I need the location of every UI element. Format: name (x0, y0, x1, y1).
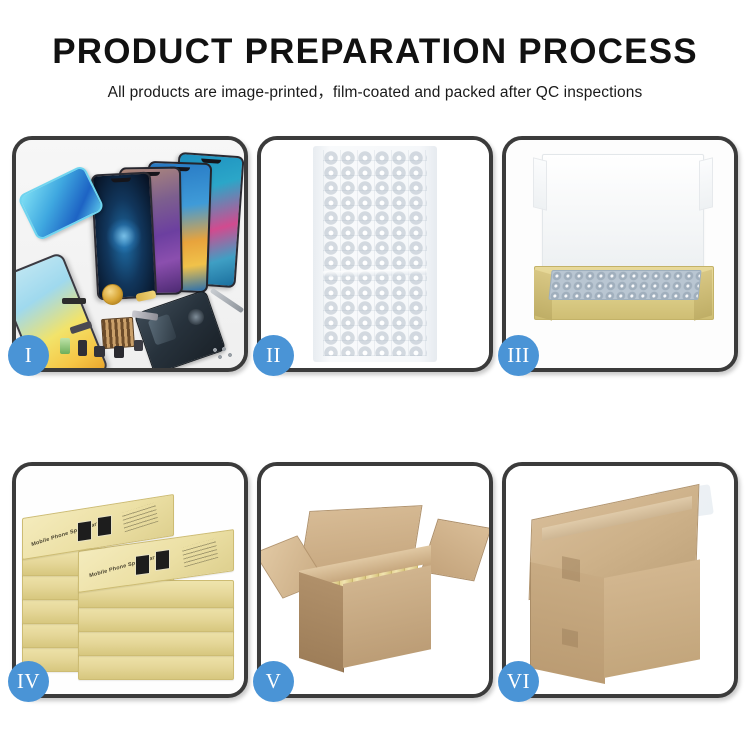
stacked-box (78, 628, 234, 656)
carton-tab-upper (562, 556, 580, 582)
vibrator-module-icon (114, 346, 124, 358)
box-print-spec-lines (182, 538, 218, 567)
notch-icon (111, 178, 131, 183)
battery-connector-icon (60, 338, 70, 354)
carton-front-face (299, 572, 344, 673)
box-print-spec-lines (122, 502, 159, 532)
step-image-3 (506, 140, 734, 368)
inner-box-lid-icon (542, 154, 704, 276)
box-stack-illustration: Mobile Phone Spare Parts Mobile Phone Sp… (22, 484, 238, 684)
box-print-screen-swatch (135, 554, 150, 576)
process-steps-grid: I II III (0, 136, 750, 698)
page-header: PRODUCT PREPARATION PROCESS All products… (0, 0, 750, 102)
phone-screen-dark-icon (91, 172, 158, 301)
chip-array-icon (101, 317, 135, 349)
stacked-box (78, 652, 234, 680)
speaker-module-icon (78, 340, 87, 356)
box-print-screen-swatch (77, 520, 92, 542)
step-panel-3[interactable]: III (502, 136, 738, 372)
step-image-6 (506, 466, 734, 694)
step-badge-3: III (498, 335, 539, 376)
step-image-5 (261, 466, 489, 694)
box-print-screen-swatch (97, 515, 112, 537)
box-print-screen-swatch (155, 549, 170, 571)
step-panel-5[interactable]: V (257, 462, 493, 698)
step-badge-1: I (8, 335, 49, 376)
step-badge-2: II (253, 335, 294, 376)
step-badge-5: V (253, 661, 294, 702)
sim-tray-icon (134, 340, 143, 351)
page-title: PRODUCT PREPARATION PROCESS (0, 34, 750, 71)
sealed-carton-front-face (530, 562, 605, 684)
camera-module-icon (94, 346, 105, 357)
step-image-2 (261, 140, 489, 368)
bubble-wrapped-content-icon (548, 270, 701, 300)
sealed-carton-side-face (604, 559, 700, 678)
carton-tab-lower (562, 628, 578, 647)
page-subtitle: All products are image-printed，film-coat… (0, 80, 750, 102)
step-badge-6: VI (498, 661, 539, 702)
bubble-wrap-creases (323, 150, 427, 356)
step-image-4: Mobile Phone Spare Parts Mobile Phone Sp… (16, 466, 244, 694)
stacked-box (78, 604, 234, 632)
charging-coil-icon (102, 284, 123, 305)
step-panel-4[interactable]: Mobile Phone Spare Parts Mobile Phone Sp… (12, 462, 248, 698)
step-badge-4: IV (8, 661, 49, 702)
flex-cable-icon (62, 298, 86, 304)
step-panel-2[interactable]: II (257, 136, 493, 372)
step-image-1 (16, 140, 244, 368)
carton-side-face (343, 565, 431, 668)
screws-icon (212, 346, 234, 360)
step-panel-6[interactable]: VI (502, 462, 738, 698)
step-panel-1[interactable]: I (12, 136, 248, 372)
